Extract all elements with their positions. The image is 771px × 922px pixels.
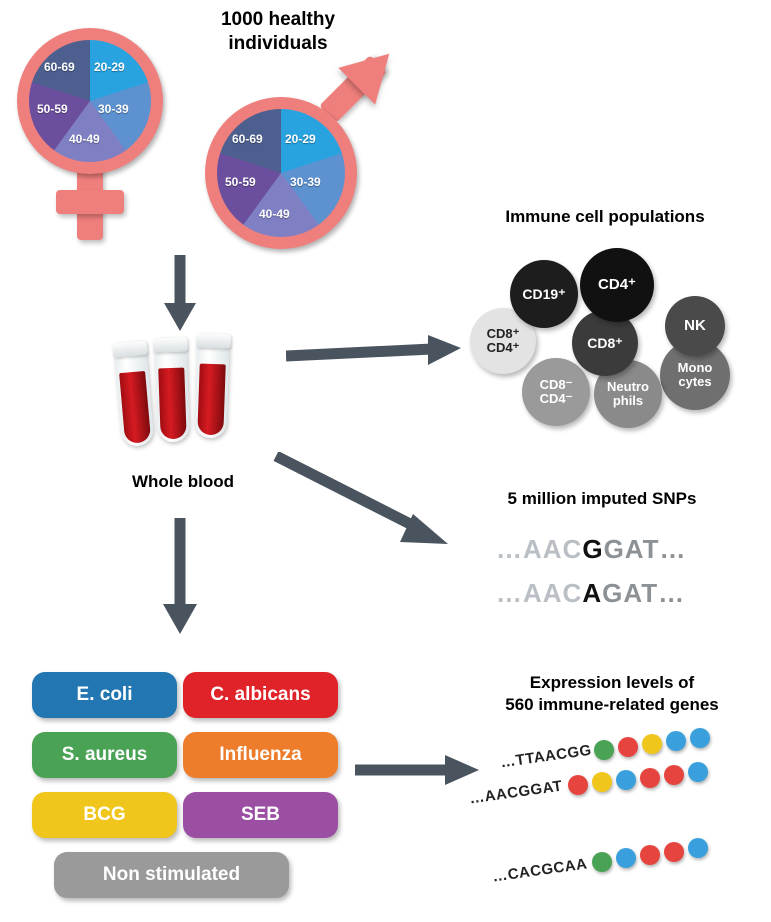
male-pie-ring: 20-29 30-39 40-49 50-59 60-69 xyxy=(205,97,357,249)
expression-title: Expression levels of 560 immune-related … xyxy=(462,672,762,716)
arrow-blood-to-snps xyxy=(272,452,462,562)
stimulus-influenza[interactable]: Influenza xyxy=(183,732,338,778)
immune-cell-populations-title: Immune cell populations xyxy=(450,207,760,227)
tube-cap xyxy=(196,333,230,348)
expression-title-line-2: 560 immune-related genes xyxy=(462,694,762,716)
cell-cd19: CD19⁺ xyxy=(510,260,578,328)
arrow-blood-to-immune xyxy=(286,318,466,378)
blood-tube xyxy=(114,341,155,447)
arrow-stimuli-to-expression xyxy=(355,745,485,795)
snp-sequence-line-1: …AACGGAT… xyxy=(496,534,687,565)
stimulus-bcg[interactable]: BCG xyxy=(32,792,177,838)
stimulus-e-coli[interactable]: E. coli xyxy=(32,672,177,718)
snp-line1-suffix: GAT… xyxy=(604,534,687,564)
bead xyxy=(568,775,588,795)
female-stem-horizontal xyxy=(56,190,124,214)
male-age-label-20-29: 20-29 xyxy=(285,132,316,146)
snp-line1-prefix: …AAC xyxy=(496,534,582,564)
cell-nk: NK xyxy=(665,296,725,356)
bead xyxy=(640,845,660,865)
cell-cd8cd4-dn: CD8⁻ CD4⁻ xyxy=(522,358,590,426)
snp-sequence-line-2: …AACAGAT… xyxy=(496,578,685,609)
cell-cd4: CD4⁺ xyxy=(580,248,654,322)
bead xyxy=(592,772,612,792)
bead xyxy=(690,728,710,748)
arrow-blood-to-stimuli xyxy=(150,518,210,638)
blood-tube xyxy=(194,333,230,438)
male-age-label-50-59: 50-59 xyxy=(225,175,256,189)
female-age-label-50-59: 50-59 xyxy=(37,102,68,116)
bead xyxy=(664,842,684,862)
bead xyxy=(618,737,638,757)
male-age-label-60-69: 60-69 xyxy=(232,132,263,146)
female-pie-ring: 20-29 30-39 40-49 50-59 60-69 xyxy=(17,28,163,174)
tube-cap xyxy=(153,337,187,352)
expression-title-line-1: Expression levels of xyxy=(462,672,762,694)
cohort-title: 1000 healthy individuals xyxy=(178,8,378,56)
stimulus-non-stimulated[interactable]: Non stimulated xyxy=(54,852,289,898)
tube-blood xyxy=(197,364,225,436)
male-age-label-40-49: 40-49 xyxy=(259,207,290,221)
tube-blood xyxy=(158,368,186,440)
bead xyxy=(592,852,612,872)
arrow-cohort-to-blood xyxy=(150,255,210,335)
snp-line1-variant: G xyxy=(582,534,603,564)
bead xyxy=(664,765,684,785)
whole-blood-label: Whole blood xyxy=(78,472,288,492)
bead xyxy=(640,768,660,788)
female-age-label-40-49: 40-49 xyxy=(69,132,100,146)
bead xyxy=(616,770,636,790)
bead xyxy=(594,740,614,760)
bead xyxy=(688,762,708,782)
stimulus-seb[interactable]: SEB xyxy=(183,792,338,838)
blood-tubes-group xyxy=(108,330,258,450)
female-age-label-60-69: 60-69 xyxy=(44,60,75,74)
male-symbol: 20-29 30-39 40-49 50-59 60-69 xyxy=(197,55,427,255)
bead xyxy=(666,731,686,751)
female-age-label-20-29: 20-29 xyxy=(94,60,125,74)
bead xyxy=(616,848,636,868)
female-age-label-30-39: 30-39 xyxy=(98,102,129,116)
female-symbol: 20-29 30-39 40-49 50-59 60-69 xyxy=(8,14,178,244)
blood-tube xyxy=(154,337,190,442)
bead xyxy=(642,734,662,754)
snp-line2-suffix: GAT… xyxy=(602,578,685,608)
expression-sequence-3: …CACGCAA xyxy=(491,855,588,885)
bead xyxy=(688,838,708,858)
snp-line2-variant: A xyxy=(582,578,602,608)
stimulus-c-albicans[interactable]: C. albicans xyxy=(183,672,338,718)
snp-title: 5 million imputed SNPs xyxy=(452,489,752,509)
male-age-label-30-39: 30-39 xyxy=(290,175,321,189)
snp-line2-prefix: …AAC xyxy=(496,578,582,608)
expression-sequence-1: …TTAACGG xyxy=(499,742,593,772)
stimulus-s-aureus[interactable]: S. aureus xyxy=(32,732,177,778)
tube-cap xyxy=(113,341,148,358)
